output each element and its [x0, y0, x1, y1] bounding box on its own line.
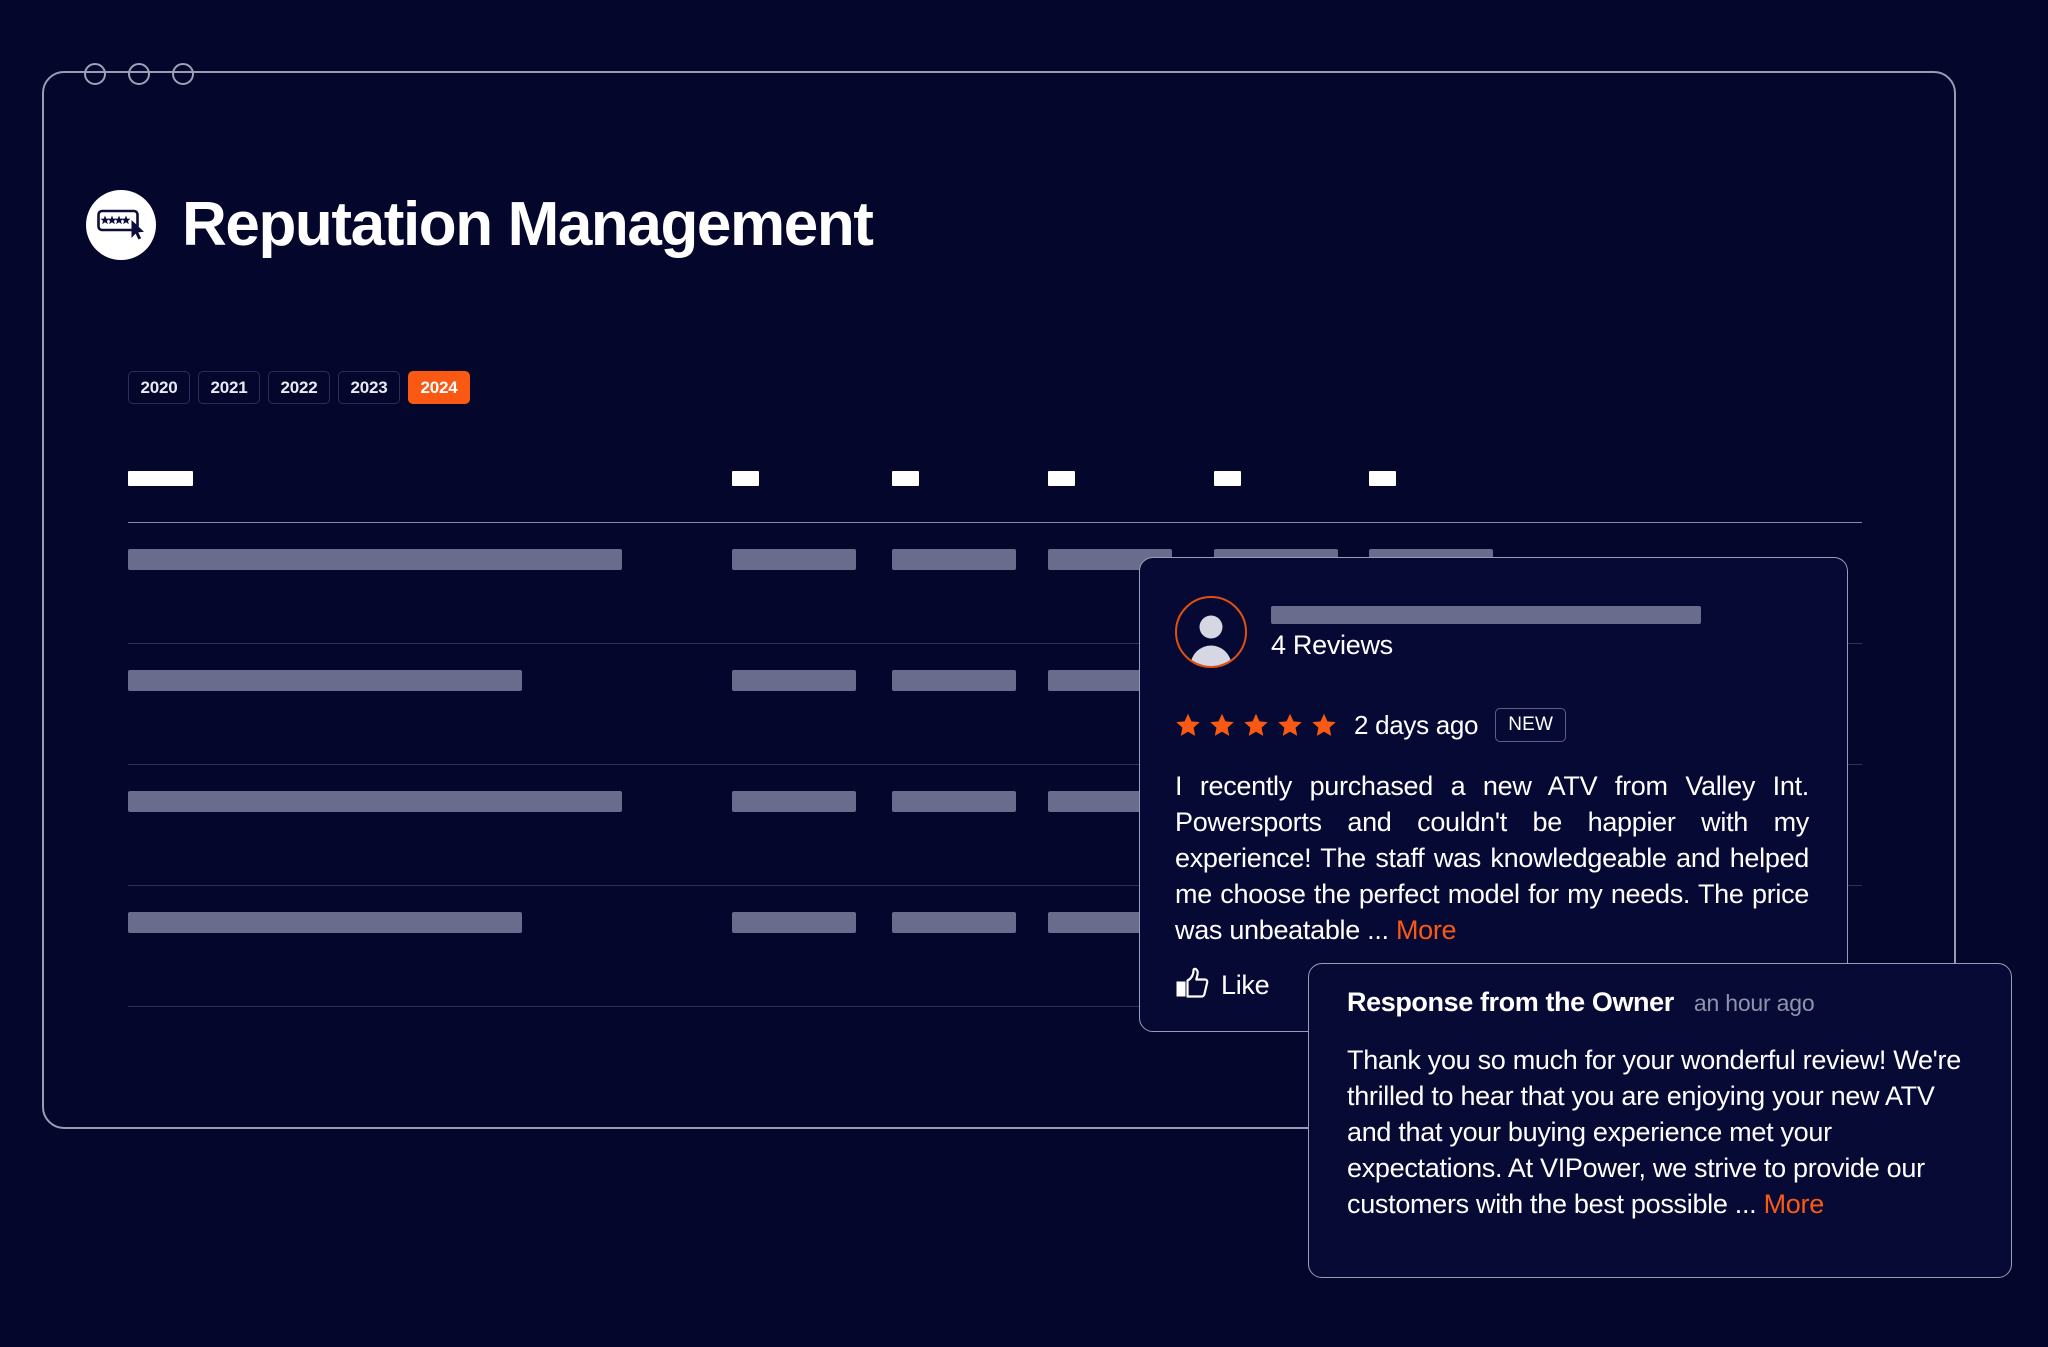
column-header-placeholder-1 — [732, 471, 759, 486]
owner-response-more-link[interactable]: More — [1764, 1189, 1824, 1219]
cell-placeholder-r1-c2 — [892, 670, 1016, 691]
cell-placeholder-r0-c1 — [732, 549, 856, 570]
star-rating — [1175, 712, 1337, 738]
review-stars-cursor-icon — [86, 190, 156, 260]
star-icon — [1243, 712, 1269, 738]
like-label: Like — [1221, 970, 1269, 1001]
cell-placeholder-r1-c0 — [128, 670, 522, 691]
cell-placeholder-r3-c0 — [128, 912, 522, 933]
owner-response-card: Response from the Owner an hour ago Than… — [1308, 963, 2012, 1278]
column-header-placeholder-5 — [1369, 471, 1396, 486]
owner-response-header: Response from the Owner an hour ago — [1347, 987, 1814, 1018]
review-timestamp: 2 days ago — [1354, 710, 1478, 741]
star-icon — [1277, 712, 1303, 738]
review-rating-row: 2 days ago NEW — [1175, 708, 1566, 742]
year-tab-2021[interactable]: 2021 — [198, 371, 260, 404]
year-tab-2023[interactable]: 2023 — [338, 371, 400, 404]
column-header-placeholder-3 — [1048, 471, 1075, 486]
column-header-placeholder-2 — [892, 471, 919, 486]
review-text-content: I recently purchased a new ATV from Vall… — [1175, 771, 1809, 945]
review-card: 4 Reviews 2 days ago NEW I recently purc… — [1139, 557, 1848, 1032]
cell-placeholder-r1-c1 — [732, 670, 856, 691]
page-header: Reputation Management — [86, 190, 873, 260]
year-tab-2020[interactable]: 2020 — [128, 371, 190, 404]
status-badge-new: NEW — [1495, 708, 1566, 742]
review-more-link[interactable]: More — [1396, 915, 1456, 945]
table-header-row — [128, 455, 1862, 523]
reviewer-name-placeholder — [1271, 606, 1701, 624]
window-controls — [84, 63, 194, 85]
column-header-placeholder-0 — [128, 471, 193, 486]
cell-placeholder-r2-c1 — [732, 791, 856, 812]
cell-placeholder-r2-c0 — [128, 791, 622, 812]
screen-root: Reputation Management 2020 2021 2022 202… — [0, 0, 2048, 1347]
window-dot-maximize-icon[interactable] — [172, 63, 194, 85]
user-avatar-icon — [1175, 596, 1247, 668]
cell-placeholder-r0-c2 — [892, 549, 1016, 570]
review-header: 4 Reviews — [1175, 596, 1701, 668]
window-dot-minimize-icon[interactable] — [128, 63, 150, 85]
owner-response-title: Response from the Owner — [1347, 987, 1674, 1018]
review-like-button[interactable]: Like — [1175, 967, 1269, 1004]
owner-response-text: Thank you so much for your wonderful rev… — [1347, 1042, 1977, 1222]
reviewer-review-count: 4 Reviews — [1271, 632, 1701, 659]
window-dot-close-icon[interactable] — [84, 63, 106, 85]
column-header-placeholder-4 — [1214, 471, 1241, 486]
year-filter-tabs: 2020 2021 2022 2023 2024 — [128, 371, 470, 404]
star-icon — [1311, 712, 1337, 738]
review-text: I recently purchased a new ATV from Vall… — [1175, 768, 1809, 948]
owner-response-text-content: Thank you so much for your wonderful rev… — [1347, 1045, 1961, 1219]
cell-placeholder-r0-c0 — [128, 549, 622, 570]
owner-response-timestamp: an hour ago — [1694, 990, 1815, 1017]
star-icon — [1209, 712, 1235, 738]
cell-placeholder-r3-c2 — [892, 912, 1016, 933]
cell-placeholder-r3-c1 — [732, 912, 856, 933]
year-tab-2022[interactable]: 2022 — [268, 371, 330, 404]
cell-placeholder-r2-c2 — [892, 791, 1016, 812]
reviewer-meta: 4 Reviews — [1271, 606, 1701, 659]
thumbs-up-icon — [1175, 967, 1209, 1004]
star-icon — [1175, 712, 1201, 738]
page-title: Reputation Management — [182, 194, 873, 256]
year-tab-2024[interactable]: 2024 — [408, 371, 470, 404]
